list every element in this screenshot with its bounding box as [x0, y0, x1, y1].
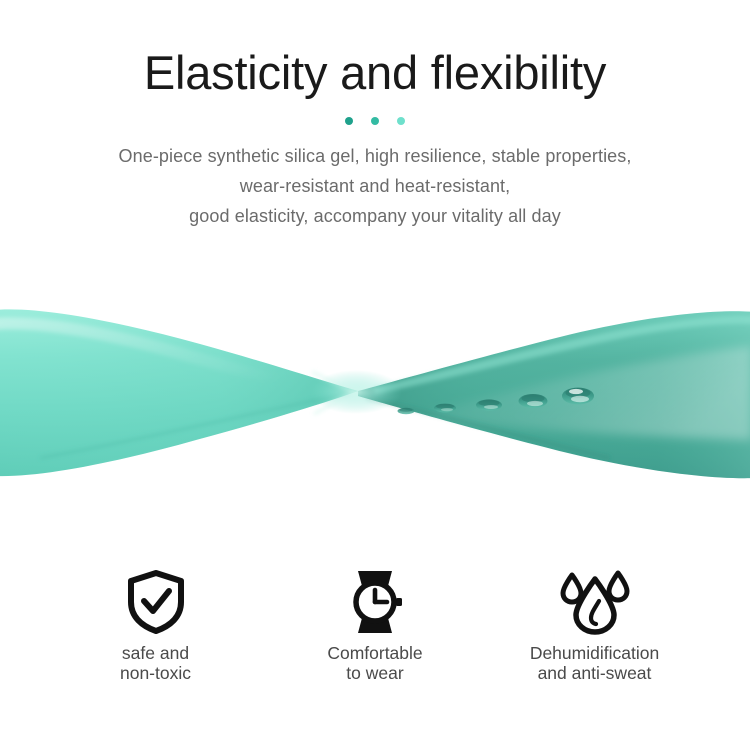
- twisted-band-illustration: [0, 262, 750, 517]
- water-droplets-icon: [557, 570, 633, 634]
- header-section: Elasticity and flexibility One-piece syn…: [0, 0, 750, 231]
- feature-row: safe and non-toxic: [0, 570, 750, 710]
- subtitle-block: One-piece synthetic silica gel, high res…: [0, 141, 750, 231]
- subtitle-line-3: good elasticity, accompany your vitality…: [0, 201, 750, 231]
- hole-5: [398, 408, 415, 414]
- feature-dehumidification: Dehumidification and anti-sweat: [487, 570, 702, 683]
- product-feature-page: Elasticity and flexibility One-piece syn…: [0, 0, 750, 750]
- band-right-wing: [358, 311, 750, 478]
- band-left-wing: [0, 309, 358, 476]
- product-image: [0, 262, 750, 517]
- band-twist-point: [310, 370, 402, 414]
- dot-2-icon: [371, 117, 379, 125]
- feature-label-line1: Comfortable: [327, 643, 422, 663]
- feature-label-line2: and anti-sweat: [530, 663, 659, 683]
- feature-label-line1: Dehumidification: [530, 643, 659, 663]
- feature-safe-non-toxic: safe and non-toxic: [48, 570, 263, 683]
- dot-3-icon: [397, 117, 405, 125]
- subtitle-line-1: One-piece synthetic silica gel, high res…: [0, 141, 750, 171]
- feature-label-safe: safe and non-toxic: [120, 643, 191, 683]
- feature-comfortable-to-wear: Comfortable to wear: [268, 570, 483, 683]
- shield-check-icon: [125, 570, 187, 634]
- page-title: Elasticity and flexibility: [0, 0, 750, 102]
- wristwatch-icon: [342, 570, 408, 634]
- feature-label-line2: non-toxic: [120, 663, 191, 683]
- subtitle-line-2: wear-resistant and heat-resistant,: [0, 171, 750, 201]
- feature-label-comfortable: Comfortable to wear: [327, 643, 422, 683]
- feature-label-line2: to wear: [327, 663, 422, 683]
- hole-2: [476, 399, 502, 410]
- hole-4: [562, 388, 594, 405]
- decorative-dots: [345, 116, 405, 125]
- feature-label-line1: safe and: [122, 643, 189, 663]
- hole-1: [434, 404, 456, 413]
- dot-1-icon: [345, 117, 353, 125]
- hole-3: [519, 394, 548, 408]
- feature-label-dehumidification: Dehumidification and anti-sweat: [530, 643, 659, 683]
